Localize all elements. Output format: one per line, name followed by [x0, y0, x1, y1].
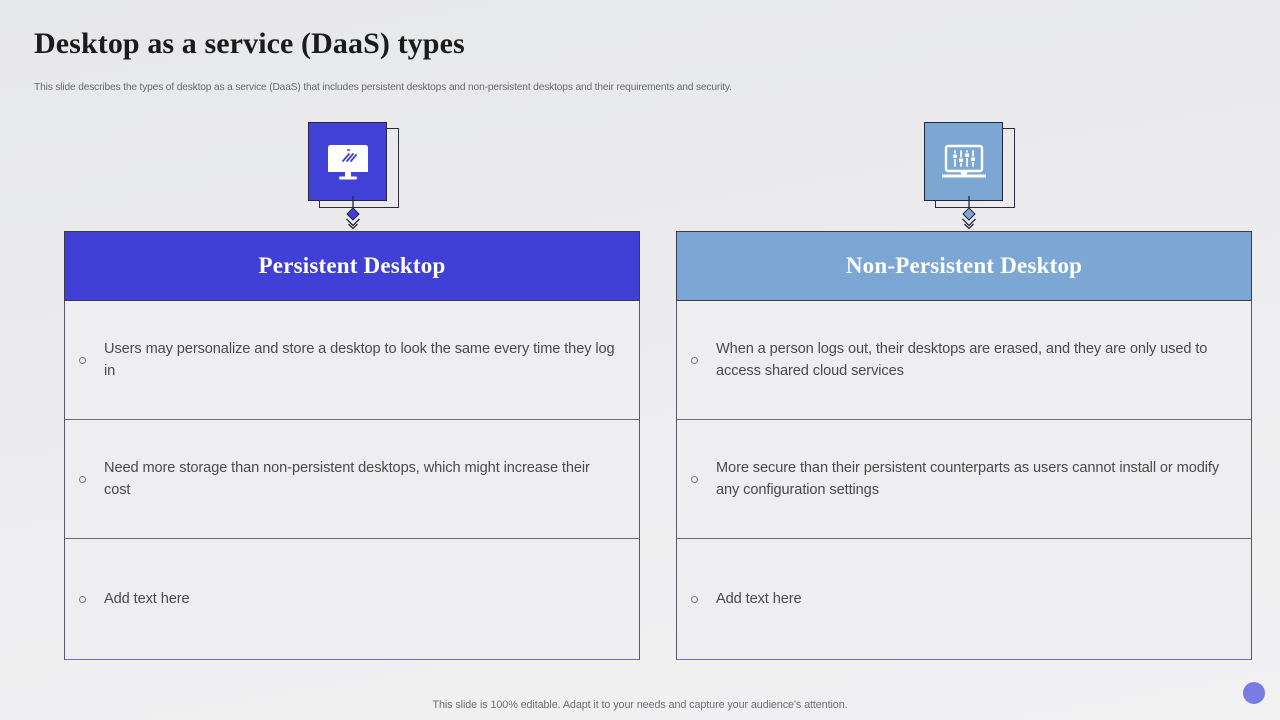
- column-non-persistent-desktop: Non-Persistent Desktop When a person log…: [676, 231, 1252, 660]
- laptop-sliders-icon: [939, 143, 989, 181]
- list-item-text: Add text here: [104, 588, 190, 610]
- icon-tile-persistent: [308, 122, 387, 201]
- list-item[interactable]: Users may personalize and store a deskto…: [65, 301, 639, 420]
- column-header-persistent: Persistent Desktop: [64, 231, 640, 301]
- list-item-text: Add text here: [716, 588, 802, 610]
- list-item[interactable]: Add text here: [677, 539, 1251, 659]
- list-item-text: Need more storage than non-persistent de…: [104, 457, 617, 501]
- list-item[interactable]: More secure than their persistent counte…: [677, 420, 1251, 539]
- bullet-circle-icon: [79, 357, 86, 364]
- connector-non-persistent: [957, 196, 981, 231]
- list-item-text: More secure than their persistent counte…: [716, 457, 1229, 501]
- cell-list-non-persistent: When a person logs out, their desktops a…: [676, 301, 1252, 660]
- bullet-circle-icon: [691, 596, 698, 603]
- bullet-circle-icon: [79, 476, 86, 483]
- desktop-monitor-icon: [325, 142, 371, 182]
- page-title: Desktop as a service (DaaS) types: [34, 26, 465, 62]
- bullet-circle-icon: [691, 476, 698, 483]
- icon-tile-non-persistent: [924, 122, 1003, 201]
- column-persistent-desktop: Persistent Desktop Users may personalize…: [64, 231, 640, 660]
- column-header-non-persistent: Non-Persistent Desktop: [676, 231, 1252, 301]
- page-subtitle: This slide describes the types of deskto…: [34, 81, 732, 95]
- list-item[interactable]: Add text here: [65, 539, 639, 659]
- corner-accent-dot: [1243, 682, 1265, 704]
- list-item-text: When a person logs out, their desktops a…: [716, 338, 1229, 382]
- list-item-text: Users may personalize and store a deskto…: [104, 338, 617, 382]
- cell-list-persistent: Users may personalize and store a deskto…: [64, 301, 640, 660]
- list-item[interactable]: Need more storage than non-persistent de…: [65, 420, 639, 539]
- connector-persistent: [341, 196, 365, 231]
- bullet-circle-icon: [79, 596, 86, 603]
- bullet-circle-icon: [691, 357, 698, 364]
- footer-note: This slide is 100% editable. Adapt it to…: [0, 699, 1280, 711]
- list-item[interactable]: When a person logs out, their desktops a…: [677, 301, 1251, 420]
